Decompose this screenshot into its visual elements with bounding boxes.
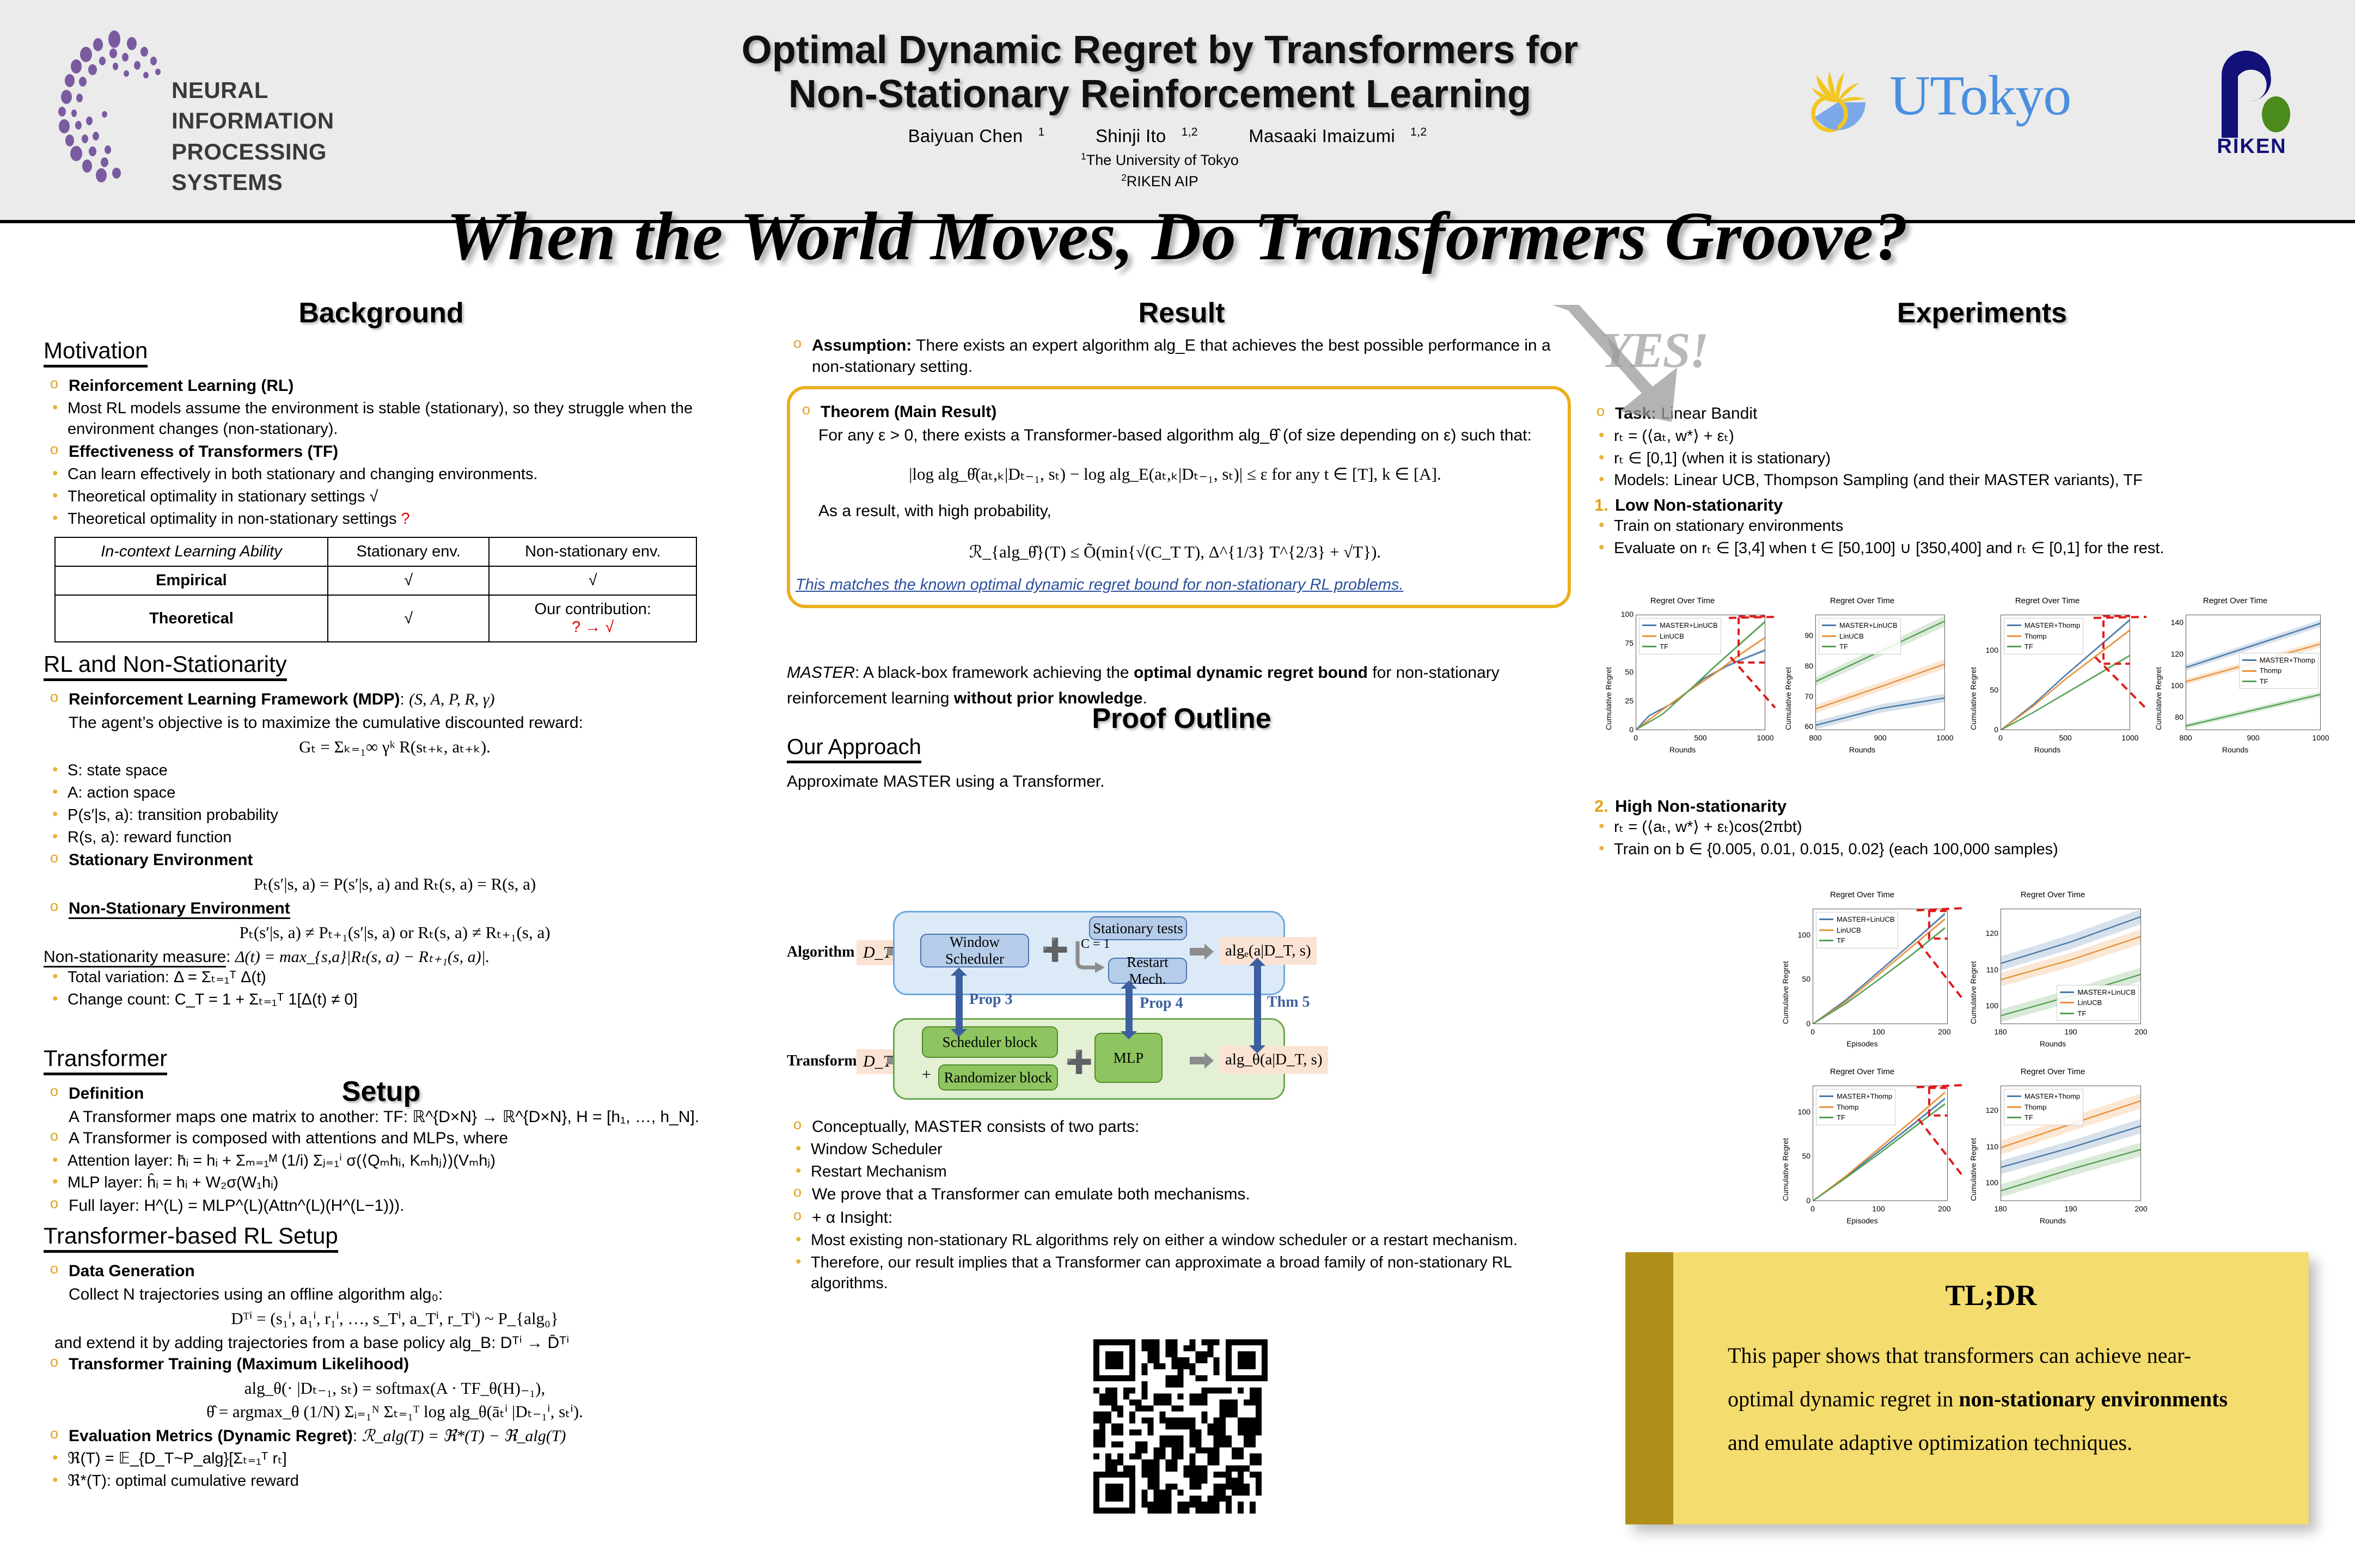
chart-x-axis-label: Episodes [1772,1039,1952,1048]
table-header-cell: Non-stationary env. [489,537,696,566]
chart-title: Regret Over Time [1595,596,1770,605]
chart-x-tick: 180 [1991,1204,2010,1213]
transformer-block: Transformer Definition A Transformer map… [44,1045,746,1216]
rl-nonstationarity-block: RL and Non-Stationarity Reinforcement Le… [44,651,746,1010]
chart-title: Regret Over Time [1772,1067,1952,1076]
list-item: A Transformer is composed with attention… [44,1128,746,1149]
section-title-result: Result [1056,297,1307,329]
chart-y-tick: 110 [1977,965,1998,974]
legend-label: TF [1839,641,1848,652]
legend-label: MASTER+LinUCB [1837,914,1895,925]
utokyo-logo: UTokyo [1797,60,2145,142]
chart-y-tick: 25 [1612,696,1634,705]
theorem-head-item: Theorem (Main Result) [796,401,1555,422]
table-header-cell: In-context Learning Ability [55,537,328,566]
background-column: Motivation Reinforcement Learning (RL) M… [44,338,746,1498]
transformer-rl-setup-heading: Transformer-based RL Setup [44,1223,338,1253]
transformer-rl-setup-block: Transformer-based RL Setup Data Generati… [44,1223,746,1491]
theorem-result-lead: As a result, with high probability, [796,500,1555,522]
chart-legend: MASTER+LinUCBLinUCBTF [1816,912,1898,948]
poster-title-line-2: Non-Stationary Reinforcement Learning [594,72,1726,117]
ns-measure-line: Non-stationarity measure: Δ(t) = max_{s,… [44,946,746,967]
table-cell: Empirical [55,566,328,595]
legend-item: TF [2007,641,2080,652]
table-row: Empirical √ √ [55,566,696,595]
list-item: Data Generation [44,1260,746,1282]
list-item: We prove that a Transformer can emulate … [787,1184,1571,1205]
legend-item: MASTER+Thomp [2007,1091,2080,1102]
legend-swatch [2007,624,2021,626]
chart-x-tick: 1000 [2120,733,2140,742]
legend-item: TF [2242,676,2315,687]
legend-swatch [2060,991,2074,993]
chart-low-ns-linucb-full: Regret Over TimeCumulative RegretRounds0… [1595,596,1770,759]
transformer-list: Definition A Transformer maps one matrix… [44,1083,746,1216]
chart-title: Regret Over Time [1960,890,2145,899]
list-item: Train on stationary environments [1590,516,2347,537]
chart-title: Regret Over Time [2145,596,2325,605]
chart-y-tick: 110 [1977,1142,1998,1151]
chart-high-ns-thomp-zoom: Regret Over TimeCumulative RegretRounds1… [1960,1067,2145,1230]
legend-item: MASTER+Thomp [2007,620,2080,631]
list-item: Models: Linear UCB, Thompson Sampling (a… [1590,470,2347,491]
section-number: 1. [1594,495,1608,515]
legend-swatch [1642,624,1656,626]
theorem-equation-1: |log alg_θ̂(aₜ,ₖ|Dₜ₋₁, sₜ) − log alg_E(a… [796,464,1555,484]
chart-x-axis-label: Rounds [1960,745,2134,754]
datagen-text-2: and extend it by adding trajectories fro… [44,1332,746,1353]
list-item: Change count: C_T = 1 + Σₜ₌₁ᵀ 1[Δ(t) ≠ 0… [44,990,746,1010]
diagram-row-label-algorithm: Algorithm [787,944,854,961]
legend-label: MASTER+LinUCB [1839,620,1898,631]
list-item: P(s′|s, a): transition probability [44,805,746,826]
list-item: rₜ = (⟨aₜ, w*⟩ + εₜ)cos(2πbt) [1590,817,2347,838]
master-parts-block: Conceptually, MASTER consists of two par… [787,1116,1571,1295]
training-equation-2: θ̂ = argmax_θ (1/N) Σᵢ₌₁ᴺ Σₜ₌₁ᵀ log alg_… [44,1402,746,1422]
chart-y-tick: 120 [1977,1106,1998,1114]
chart-y-tick: 100 [1977,1001,1998,1010]
chart-y-tick: 140 [2162,618,2183,627]
chart-low-ns-linucb-zoom: Regret Over TimeCumulative RegretRounds8… [1775,596,1949,759]
legend-item: MASTER+LinUCB [1822,620,1898,631]
list-item: Definition [44,1083,746,1104]
legend-label: MASTER+Thomp [2024,1091,2080,1102]
list-item: Window Scheduler [787,1140,1571,1160]
legend-swatch [2007,1095,2021,1097]
master-description-block: MASTER: A black-box framework achieving … [787,660,1571,711]
legend-swatch [1819,940,1833,941]
legend-swatch [2060,1013,2074,1014]
list-item: Full layer: H^(L) = MLP^(L)(Attn^(L)(H^(… [44,1195,746,1216]
legend-label: TF [1660,641,1668,652]
chart-y-tick: 50 [1789,1151,1810,1160]
node-restart-mech[interactable]: Restart Mech. [1108,958,1187,984]
neurips-logo: NEURAL INFORMATION PROCESSING SYSTEMS [54,27,436,185]
arrow-output-algorithm [1190,948,1205,955]
list-item: Train on b ∈ {0.005, 0.01, 0.015, 0.02} … [1590,840,2347,860]
legend-item: MASTER+Thomp [1819,1091,1892,1102]
label-prop4: Prop 4 [1140,995,1183,1012]
list-item: Transformer Training (Maximum Likelihood… [44,1353,746,1375]
chart-y-tick: 0 [1789,1196,1810,1205]
chart-x-tick: 0 [1626,733,1646,742]
chart-x-axis-label: Rounds [1775,745,1949,754]
legend-item: MASTER+LinUCB [1642,620,1718,631]
chart-y-tick: 90 [1791,631,1813,640]
legend-swatch [2007,1106,2021,1108]
chart-low-ns-thomp-zoom: Regret Over TimeCumulative RegretRounds8… [2145,596,2325,759]
legend-item: TF [2007,1112,2080,1123]
datagen-text: Collect N trajectories using an offline … [44,1284,746,1305]
chart-x-tick: 200 [2131,1204,2151,1213]
legend-item: TF [1819,1112,1892,1123]
master-description: MASTER: A black-box framework achieving … [787,660,1571,711]
result-column: Assumption: There exists an expert algor… [787,335,1571,792]
legend-label: MASTER+LinUCB [1660,620,1718,631]
chart-y-tick: 50 [1977,685,1998,694]
legend-label: TF [1837,1112,1845,1123]
chart-y-tick: 80 [1791,661,1813,670]
list-item: Attention layer: h̄ᵢ = hᵢ + Σₘ₌₁ᴹ (1/i) … [44,1151,746,1172]
legend-item: Thomp [2242,665,2315,676]
legend-item: TF [1819,935,1895,946]
legend-label: TF [2260,676,2268,687]
transformer-rl-setup-list: Data Generation Collect N trajectories u… [44,1260,746,1491]
list-item: Non-Stationary Environment [44,898,746,919]
transformer-heading: Transformer [44,1045,167,1075]
our-approach-heading: Our Approach [787,735,921,763]
datagen-equation: Dᵀⁱ = (s₁ⁱ, a₁ⁱ, r₁ⁱ, …, s_Tⁱ, a_Tⁱ, r_T… [44,1309,746,1328]
legend-item: LinUCB [1822,631,1898,642]
chart-y-tick: 100 [1612,610,1634,618]
rl-nonstationarity-list: Reinforcement Learning Framework (MDP): … [44,689,746,1010]
chart-x-tick: 100 [1869,1027,1888,1036]
section-title-background: Background [229,297,534,329]
legend-label: Thomp [2260,665,2281,676]
list-item: Stationary Environment [44,849,746,871]
legend-swatch [2060,1002,2074,1003]
arrow-thm5 [1254,965,1261,1046]
experiment-section-2-block: 2.High Non-stationarity rₜ = (⟨aₜ, w*⟩ +… [1590,792,2347,861]
chart-title: Regret Over Time [1772,890,1952,899]
neurips-line-2: PROCESSING SYSTEMS [172,137,427,198]
chart-y-tick: 50 [1612,667,1634,676]
utokyo-ginkgo-icon [1797,60,1879,142]
list-item: ℜ*(T): optimal cumulative reward [44,1471,746,1492]
contribution-arrow: ? → √ [493,618,693,636]
poster-title-line-1: Optimal Dynamic Regret by Transformers f… [594,28,1726,72]
table-header-row: In-context Learning Ability Stationary e… [55,537,696,566]
chart-x-axis-label: Episodes [1772,1216,1952,1225]
restart-hook-arrow-icon [1070,940,1108,974]
list-item: Evaluation Metrics (Dynamic Regret): ℛ_a… [44,1425,746,1447]
theorem-equation-2: ℛ_{alg_θ̂}(T) ≤ Õ(min{√(C_T T), Δ^{1/3} … [796,542,1555,562]
neurips-swirl-icon [54,27,172,185]
list-item: Effectiveness of Transformers (TF) [44,441,746,462]
chart-y-tick: 80 [2162,713,2183,721]
plus-icon-algorithm: ➕ [1042,937,1069,963]
arrow-output-transformer [1190,1057,1205,1064]
list-item: Conceptually, MASTER consists of two par… [787,1116,1571,1137]
riken-wordmark: RIKEN [2204,135,2299,158]
chart-legend: MASTER+ThompThompTF [1816,1089,1895,1125]
neurips-wordmark: NEURAL INFORMATION PROCESSING SYSTEMS [172,75,427,198]
legend-swatch [2007,635,2021,637]
chart-legend: MASTER+LinUCBLinUCBTF [2057,985,2139,1021]
chart-x-tick: 200 [1935,1204,1954,1213]
arrow-prop3 [956,975,963,1030]
list-item: Most RL models assume the environment is… [44,399,746,439]
chart-y-axis-label: Cumulative Regret [1969,667,1978,730]
chart-y-tick: 75 [1612,639,1634,647]
chart-title: Regret Over Time [1960,596,2134,605]
assumption-list: Assumption: There exists an expert algor… [787,335,1571,377]
table-cell: √ [328,595,490,642]
chart-y-tick: 100 [1977,1178,1998,1187]
legend-swatch [1819,929,1833,931]
contribution-label: Our contribution: [493,601,693,618]
chart-x-tick: 0 [1803,1204,1822,1213]
chart-x-tick: 500 [2056,733,2075,742]
node-scheduler-block[interactable]: Scheduler block [922,1026,1058,1058]
list-item: Reinforcement Learning (RL) [44,375,746,396]
assumption-item: Assumption: There exists an expert algor… [787,335,1571,377]
legend-swatch [1642,635,1656,637]
author-2: Shinji Ito1,2 [1080,126,1198,146]
legend-swatch [1642,646,1656,647]
chart-low-ns-thomp-full: Regret Over TimeCumulative RegretRounds0… [1960,596,2134,759]
diagram-output-transformer: alg_θ(a|D_T, s) [1220,1046,1328,1074]
chart-x-tick: 1000 [2311,733,2330,742]
legend-swatch [2242,681,2256,682]
chart-y-axis-label: Cumulative Regret [1781,1138,1790,1201]
chart-y-tick: 100 [2162,681,2183,690]
list-item: + α Insight: [787,1207,1571,1228]
legend-item: TF [1822,641,1898,652]
table-cell-contribution: Our contribution: ? → √ [489,595,696,642]
chart-x-tick: 180 [1991,1027,2010,1036]
legend-item: LinUCB [1819,925,1895,936]
chart-high-ns-linucb-full: Regret Over TimeCumulative RegretEpisode… [1772,890,1952,1053]
node-window-scheduler[interactable]: Window Scheduler [920,934,1029,967]
chart-x-axis-label: Rounds [1960,1039,2145,1048]
table-header-cell: Stationary env. [328,537,490,566]
affiliation-2: 2RIKEN AIP [594,172,1726,190]
qr-code-icon[interactable] [1091,1339,1270,1514]
legend-item: TF [2060,1008,2136,1019]
riken-mark-icon [2200,42,2303,140]
legend-label: LinUCB [1660,631,1684,642]
list-item: R(s, a): reward function [44,828,746,848]
legend-label: LinUCB [1837,925,1861,936]
legend-label: TF [2024,1112,2033,1123]
legend-swatch [2007,1117,2021,1118]
legend-swatch [1819,1117,1833,1118]
chart-x-axis-label: Rounds [1960,1216,2145,1225]
chart-x-tick: 1000 [1935,733,1955,742]
theorem-box: Theorem (Main Result) For any ε > 0, the… [787,386,1571,608]
chart-title: Regret Over Time [1960,1067,2145,1076]
table-cell: √ [489,566,696,595]
label-thm5: Thm 5 [1267,994,1310,1011]
chart-x-axis-label: Rounds [2145,745,2325,754]
legend-item: MASTER+LinUCB [1819,914,1895,925]
motivation-heading: Motivation [44,338,148,367]
master-parts-list: Conceptually, MASTER consists of two par… [787,1116,1571,1294]
nonstationary-equation: Pₜ(s′|s, a) ≠ Pₜ₊₁(s′|s, a) or Rₜ(s, a) … [44,923,746,942]
list-item: Most existing non-stationary RL algorith… [787,1230,1571,1251]
author-list: Baiyuan Chen1 Shinji Ito1,2 Masaaki Imai… [594,126,1726,146]
in-context-learning-table: In-context Learning Ability Stationary e… [54,537,697,642]
list-item: Theoretical optimality in non-stationary… [44,509,746,530]
chart-x-tick: 0 [1991,733,2010,742]
legend-swatch [2007,646,2021,647]
legend-swatch [2242,659,2256,661]
qr-code[interactable] [1091,1339,1270,1514]
table-row: Theoretical √ Our contribution: ? → √ [55,595,696,642]
chart-x-axis-label: Rounds [1595,745,1770,754]
chart-legend: MASTER+LinUCBLinUCBTF [1819,618,1901,654]
list-item: Reinforcement Learning Framework (MDP): … [44,689,746,710]
our-approach-block: Our Approach Approximate MASTER using a … [787,735,1571,792]
chart-legend: MASTER+ThompThompTF [2239,653,2319,689]
chart-legend: MASTER+ThompThompTF [2004,618,2083,654]
author-3: Masaaki Imaizumi1,2 [1233,126,1427,146]
chart-x-tick: 190 [2061,1204,2081,1213]
chart-x-tick: 0 [1803,1027,1822,1036]
list-item: Can learn effectively in both stationary… [44,464,746,485]
chart-y-tick: 50 [1789,975,1810,983]
table-cell: Theoretical [55,595,328,642]
riken-logo: RIKEN [2200,42,2309,168]
theorem-list: Theorem (Main Result) [796,401,1555,422]
chart-y-tick: 70 [1791,692,1813,701]
poster-tagline: When the World Moves, Do Transformers Gr… [0,203,2355,271]
legend-item: Thomp [1819,1102,1892,1113]
motivation-block: Motivation Reinforcement Learning (RL) M… [44,338,746,642]
experiment-2-list: rₜ = (⟨aₜ, w*⟩ + εₜ)cos(2πbt) Train on b… [1590,817,2347,860]
legend-swatch [2242,670,2256,672]
chart-x-tick: 800 [1806,733,1825,742]
chart-y-tick: 100 [1977,646,1998,654]
node-randomizer-block[interactable]: Randomizer block [938,1064,1058,1091]
architecture-diagram: Algorithm Transformer D_T D_T Window Sch… [787,901,1571,1102]
chart-high-ns-linucb-zoom: Regret Over TimeCumulative RegretRounds1… [1960,890,2145,1053]
plus-icon-randomizer: + [922,1065,931,1084]
legend-item: LinUCB [1642,631,1718,642]
legend-swatch [1819,1106,1833,1108]
poster-header: NEURAL INFORMATION PROCESSING SYSTEMS Op… [0,0,2355,223]
legend-swatch [1822,624,1836,626]
training-equation-1: alg_θ(· |Dₜ₋₁, sₜ) = softmax(A · TF_θ(H)… [44,1379,746,1398]
title-block: Optimal Dynamic Regret by Transformers f… [594,28,1726,190]
chart-legend: MASTER+LinUCBLinUCBTF [1639,618,1721,654]
mdp-equation: Gₜ = Σₖ₌₁∞ γᵏ R(sₜ₊ₖ, aₜ₊ₖ). [44,737,746,757]
legend-label: TF [2077,1008,2086,1019]
chart-y-tick: 100 [1789,1107,1810,1116]
chart-x-tick: 800 [2176,733,2195,742]
theorem-note: This matches the known optimal dynamic r… [796,576,1555,594]
mdp-objective-text: The agent’s objective is to maximize the… [44,712,746,733]
arrow-prop4 [1125,988,1133,1032]
label-prop3: Prop 3 [969,991,1013,1008]
chart-title: Regret Over Time [1775,596,1949,605]
chart-x-tick: 100 [1869,1204,1888,1213]
tldr-title: TL;DR [1673,1278,2309,1312]
legend-label: LinUCB [1839,631,1864,642]
rl-nonstationarity-heading: RL and Non-Stationarity [44,651,287,681]
diagram-output-algorithm: algₑ(a|D_T, s) [1220,937,1317,965]
chart-y-tick: 0 [1977,725,1998,734]
list-item: Restart Mechanism [787,1162,1571,1183]
chart-y-tick: 0 [1612,725,1634,734]
section-number: 2. [1594,797,1608,816]
legend-label: MASTER+Thomp [2024,620,2080,631]
chart-legend: MASTER+ThompThompTF [2004,1089,2083,1125]
list-item: rₜ ∈ [0,1] (when it is stationary) [1590,449,2347,469]
chart-x-tick: 1000 [1755,733,1775,742]
legend-label: MASTER+Thomp [2260,655,2315,666]
affiliation-1: 1The University of Tokyo [594,151,1726,169]
legend-item: MASTER+LinUCB [2060,987,2136,998]
chart-x-tick: 190 [2061,1027,2081,1036]
legend-item: Thomp [2007,631,2080,642]
legend-item: TF [1642,641,1718,652]
author-1: Baiyuan Chen1 [893,126,1045,146]
chart-high-ns-thomp-full: Regret Over TimeCumulative RegretEpisode… [1772,1067,1952,1230]
legend-label: Thomp [2024,1102,2046,1113]
legend-label: Thomp [2024,631,2046,642]
neurips-line-1: NEURAL INFORMATION [172,75,427,137]
motivation-list: Reinforcement Learning (RL) Most RL mode… [44,375,746,529]
chart-x-tick: 200 [1935,1027,1954,1036]
chart-y-tick: 120 [2162,650,2183,658]
legend-label: MASTER+LinUCB [2077,987,2136,998]
list-item: Evaluate on rₜ ∈ [3,4] when t ∈ [50,100]… [1590,538,2347,559]
legend-label: TF [1837,935,1845,946]
chart-y-tick: 0 [1789,1019,1810,1028]
experiment-section-1-heading: 1.Low Non-stationarity [1590,495,2347,515]
table-cell: √ [328,566,490,595]
chart-y-tick: 120 [1977,929,1998,938]
list-item: Total variation: Δ = Σₜ₌₁ᵀ Δ(t) [44,967,746,988]
legend-swatch [1819,1095,1833,1097]
list-item: Therefore, our result implies that a Tra… [787,1253,1571,1294]
chart-y-tick: 60 [1791,722,1813,731]
list-item: S: state space [44,761,746,781]
chart-x-tick: 200 [2131,1027,2151,1036]
chart-x-tick: 900 [2243,733,2263,742]
section-title-experiments: Experiments [1819,297,2145,329]
list-item: ℜ(T) = 𝔼_{D_T~P_alg}[Σₜ₌₁ᵀ rₜ] [44,1449,746,1469]
tldr-box: TL;DR This paper shows that transformers… [1625,1252,2309,1524]
yes-arrow-icon [1541,305,1715,441]
utokyo-wordmark: UTokyo [1889,68,2071,124]
list-item: MLP layer: ĥᵢ = hᵢ + W₂σ(W₁hᵢ) [44,1173,746,1193]
legend-label: Thomp [1837,1102,1858,1113]
legend-swatch [1822,646,1836,647]
transformer-definition: A Transformer maps one matrix to another… [44,1106,746,1128]
legend-swatch [1822,635,1836,637]
node-mlp[interactable]: MLP [1094,1033,1163,1083]
chart-y-axis-label: Cumulative Regret [1781,961,1790,1024]
legend-item: LinUCB [2060,997,2136,1008]
our-approach-text: Approximate MASTER using a Transformer. [787,771,1571,792]
chart-x-tick: 500 [1691,733,1710,742]
legend-label: TF [2024,641,2033,652]
chart-x-tick: 900 [1870,733,1890,742]
legend-item: MASTER+Thomp [2242,655,2315,666]
